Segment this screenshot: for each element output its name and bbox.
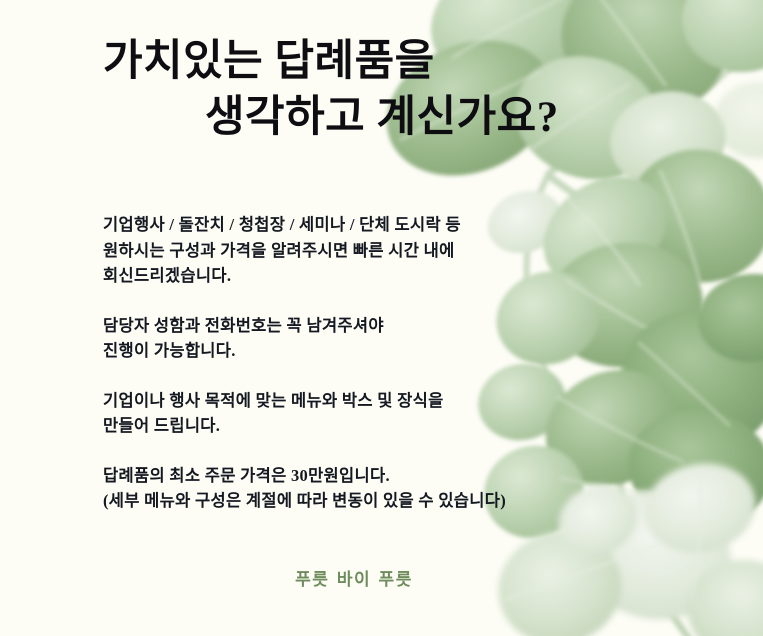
- headline-line-1: 가치있는 답례품을: [0, 34, 660, 90]
- page-title: 가치있는 답례품을 생각하고 계신가요?: [0, 34, 660, 146]
- paragraph-services: 기업행사 / 돌잔치 / 청첩장 / 세미나 / 단체 도시락 등 원하시는 구…: [103, 212, 663, 289]
- brand-signature: 푸릇 바이 푸릇: [0, 565, 763, 590]
- poster-canvas: 가치있는 답례품을 생각하고 계신가요? 기업행사 / 돌잔치 / 청첩장 / …: [0, 0, 763, 636]
- headline-line-2: 생각하고 계신가요?: [0, 90, 660, 146]
- paragraph-custom-menu: 기업이나 행사 목적에 맞는 메뉴와 박스 및 장식을 만들어 드립니다.: [103, 388, 663, 439]
- paragraph-contact-required: 담당자 성함과 전화번호는 꼭 남겨주셔야 진행이 가능합니다.: [103, 313, 663, 364]
- poster-content: 가치있는 답례품을 생각하고 계신가요? 기업행사 / 돌잔치 / 청첩장 / …: [0, 0, 763, 636]
- paragraph-minimum-order: 답례품의 최소 주문 가격은 30만원입니다. (세부 메뉴와 구성은 계절에 …: [103, 463, 663, 514]
- body-copy: 기업행사 / 돌잔치 / 청첩장 / 세미나 / 단체 도시락 등 원하시는 구…: [103, 212, 663, 514]
